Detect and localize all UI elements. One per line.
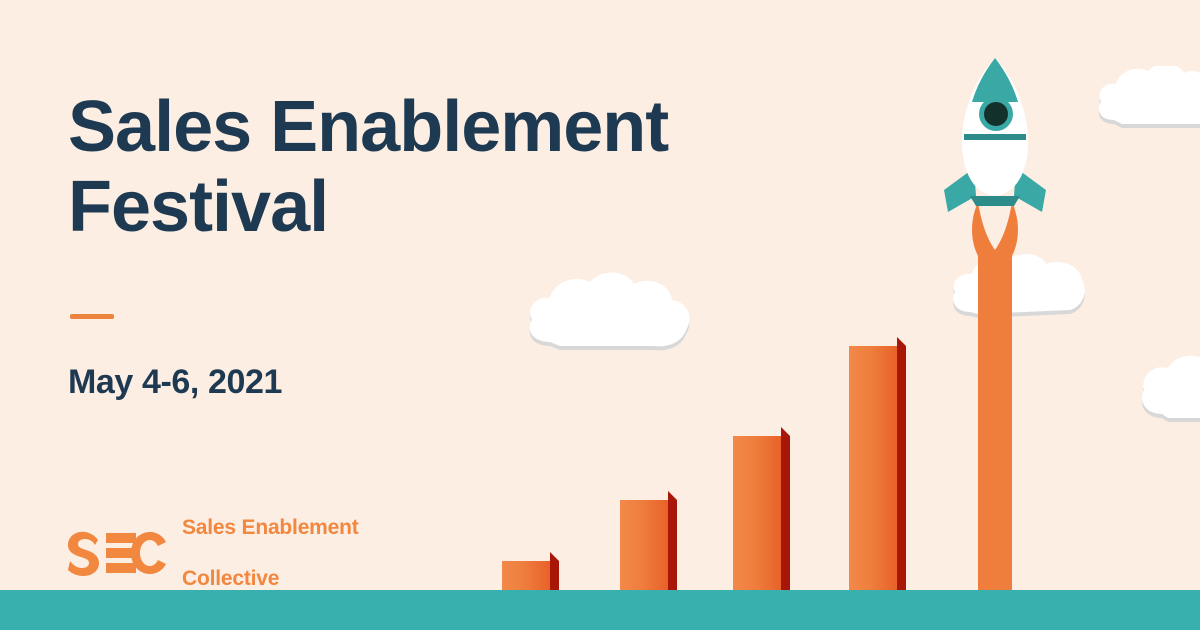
bar-3-shadow bbox=[781, 436, 790, 608]
logo-wordmark: Sales Enablement Collective bbox=[182, 489, 359, 617]
rocket-stripe bbox=[964, 134, 1026, 140]
headline-block: Sales Enablement Festival May 4-6, 2021 bbox=[68, 88, 768, 402]
bar-4-shadow bbox=[897, 346, 906, 608]
headline-line-1: Sales Enablement bbox=[68, 87, 668, 167]
orange-divider bbox=[70, 314, 114, 319]
event-date: May 4-6, 2021 bbox=[68, 363, 768, 402]
bar-4 bbox=[849, 346, 897, 608]
logo-wordmark-line-1: Sales Enablement bbox=[182, 515, 359, 541]
logo-wordmark-line-2: Collective bbox=[182, 566, 359, 592]
rocket-base-plate bbox=[970, 196, 1020, 206]
page-title: Sales Enablement Festival bbox=[68, 88, 768, 248]
bar-3-face bbox=[733, 436, 781, 608]
sec-logo-mark bbox=[68, 530, 166, 576]
event-banner: Sales Enablement Festival May 4-6, 2021 … bbox=[0, 0, 1200, 630]
rocket-porthole-glass bbox=[984, 102, 1008, 126]
logo[interactable]: Sales Enablement Collective bbox=[68, 489, 359, 617]
rocket-trail bbox=[972, 202, 1018, 610]
rocket-illustration bbox=[930, 50, 1060, 630]
bar-4-face bbox=[849, 346, 897, 608]
bar-3 bbox=[733, 436, 781, 608]
headline-line-2: Festival bbox=[68, 167, 328, 247]
